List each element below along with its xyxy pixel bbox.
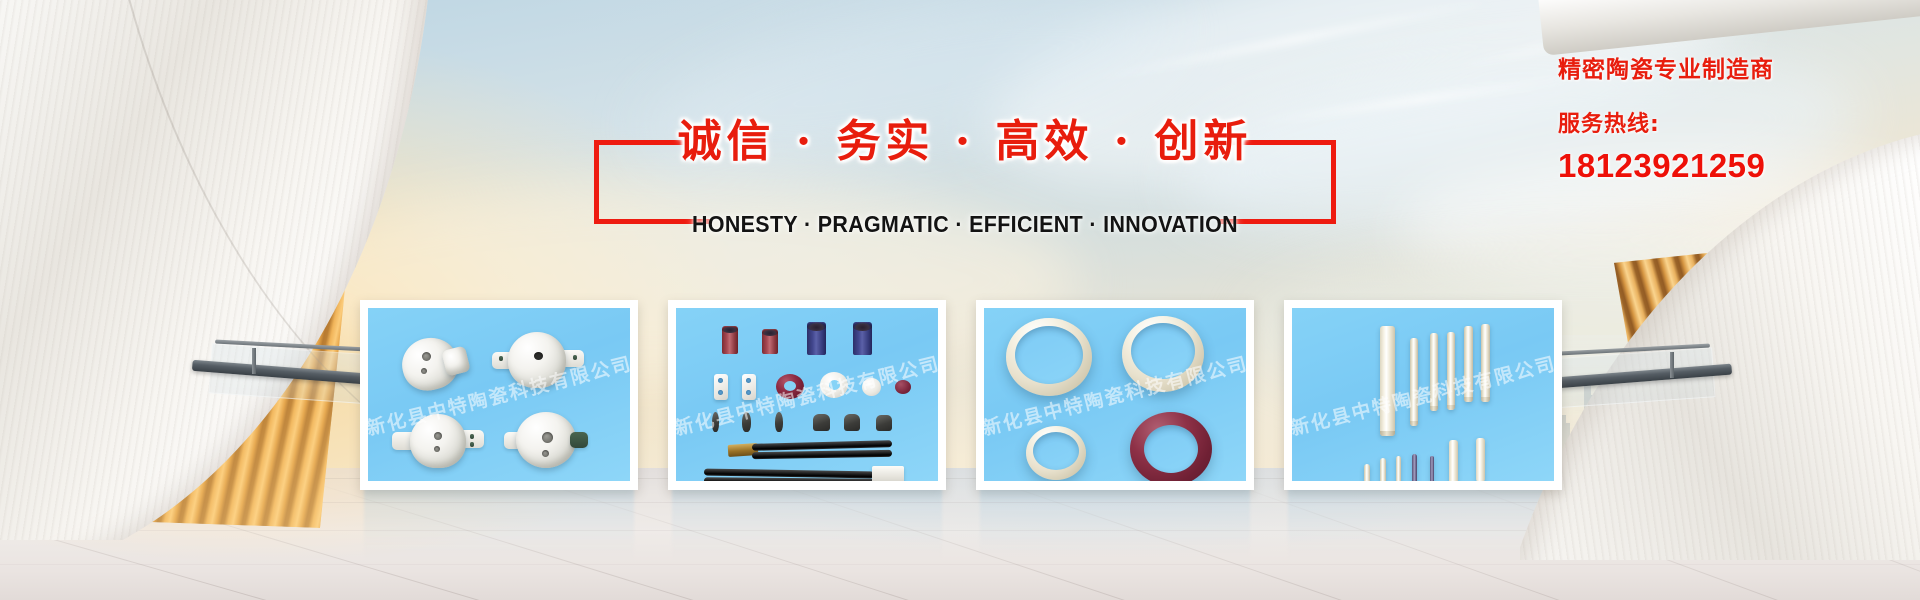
rod-cap [1481,397,1490,402]
rod-cap [1464,397,1473,402]
holder-hole-2 [542,450,549,457]
ceramic-rod-short-1 [1364,464,1370,481]
ceramic-rod-4 [1447,332,1455,410]
metal-clip-5 [844,414,860,431]
ceramic-rod-short-5 [1430,456,1434,481]
company-tagline: 精密陶瓷专业制造商 [1558,50,1918,84]
holder-pin-r [573,355,577,360]
ring-bore [1015,326,1083,384]
cable-white-connector [872,466,904,481]
rod-cap [1447,405,1455,410]
cable-upper-b [752,450,892,459]
ceramic-rod-short-2 [1380,458,1386,481]
slogan-chinese: 诚信 · 务实 · 高效 · 创新 [594,105,1336,169]
ring-bore [1131,323,1195,379]
metal-clip-4 [813,414,830,431]
ceramic-tube-red-1 [722,326,738,354]
holder-hole-1 [434,432,442,440]
ceramic-ring-large-2 [1122,316,1204,392]
metal-clip-3 [775,412,783,432]
product-panel-1[interactable]: 新化县中特陶瓷科技有限公司 [360,300,638,490]
ring-bore [1033,432,1079,470]
ceramic-rod-3 [1430,333,1438,411]
holder-body [508,332,566,388]
holder-body [410,414,466,468]
metal-clip-1 [712,412,719,432]
rod-cap [1430,406,1438,411]
rail-post-right [1670,352,1674,378]
ceramic-cap-maroon [895,380,911,394]
ceramic-ring-large-1 [1006,318,1092,396]
metal-clip-6 [876,415,892,431]
rail-post-left [252,348,256,374]
ceramic-ring-maroon-small [776,374,804,399]
plate-hole-1 [718,378,723,383]
holder-stem [441,345,471,376]
panel-1-image: 新化县中特陶瓷科技有限公司 [368,308,630,481]
ceramic-rod-short-6 [1449,440,1458,481]
ring-hole [784,381,796,391]
rod-cap [1380,431,1395,436]
rod-cap [1410,421,1418,426]
watermark-4: 新化县中特陶瓷科技有限公司 [1292,348,1554,440]
roof-edge-right [1538,0,1920,56]
ceramic-ring-maroon-large [1130,412,1212,481]
floor-tile-seam-4 [0,564,1920,565]
holder-hole-1 [534,352,543,360]
contact-block: 精密陶瓷专业制造商 服务热线: 18123921259 [1558,50,1918,185]
ring-bore [1144,425,1198,473]
holder-hole-1 [542,432,553,443]
ceramic-tube-blue-2 [853,322,872,355]
promo-banner: 诚信 · 务实 · 高效 · 创新 HONESTY · PRAGMATIC · … [0,0,1920,600]
lamp-holder-a [400,334,470,392]
holder-hole-1 [422,352,431,361]
ceramic-rod-short-4 [1412,454,1417,481]
slogan-english: HONESTY · PRAGMATIC · EFFICIENT · INNOVA… [620,211,1310,238]
plate-hole-2 [746,390,751,395]
ceramic-rod-5 [1464,326,1473,402]
slogan-block: 诚信 · 务实 · 高效 · 创新 HONESTY · PRAGMATIC · … [594,140,1336,224]
ceramic-plate-2 [742,374,756,400]
holder-pin-l [499,356,503,361]
product-panel-3[interactable]: 新化县中特陶瓷科技有限公司 [976,300,1254,490]
plate-hole-2 [718,390,723,395]
holder-hole-2 [421,368,427,374]
plate-hole-1 [746,378,751,383]
ceramic-ring-white [820,372,848,398]
lamp-holder-d [504,412,598,472]
panel-4-image: 新化县中特陶瓷科技有限公司 [1292,308,1554,481]
holder-pin-2 [470,442,474,447]
hotline-number[interactable]: 18123921259 [1558,147,1918,185]
ceramic-plate-1 [714,374,728,400]
ceramic-cap-white [862,378,881,396]
ceramic-ring-small [1026,426,1086,480]
panel-3-image: 新化县中特陶瓷科技有限公司 [984,308,1246,481]
holder-contact-block [570,432,588,448]
hotline-label: 服务热线: [1558,106,1918,138]
ceramic-tube-red-2 [762,329,778,354]
cable-lower-b [704,477,874,481]
ceramic-rod-short-3 [1396,456,1401,481]
holder-hole-2 [434,446,440,452]
product-panel-2[interactable]: 新化县中特陶瓷科技有限公司 [668,300,946,490]
ceramic-rod-short-7 [1476,438,1485,481]
ceramic-rod-2 [1410,338,1418,426]
ring-hole [829,380,840,390]
lamp-holder-c [392,412,488,474]
product-panel-4[interactable]: 新化县中特陶瓷科技有限公司 [1284,300,1562,490]
cloud-streak-1 [1083,0,1506,84]
holder-pin-1 [470,434,474,439]
metal-clip-2 [742,412,751,432]
ceramic-rod-6 [1481,324,1490,402]
panel-2-image: 新化县中特陶瓷科技有限公司 [676,308,938,481]
ceramic-tube-blue-1 [807,322,826,355]
ceramic-rod-1 [1380,326,1395,436]
lamp-holder-b [492,330,588,392]
